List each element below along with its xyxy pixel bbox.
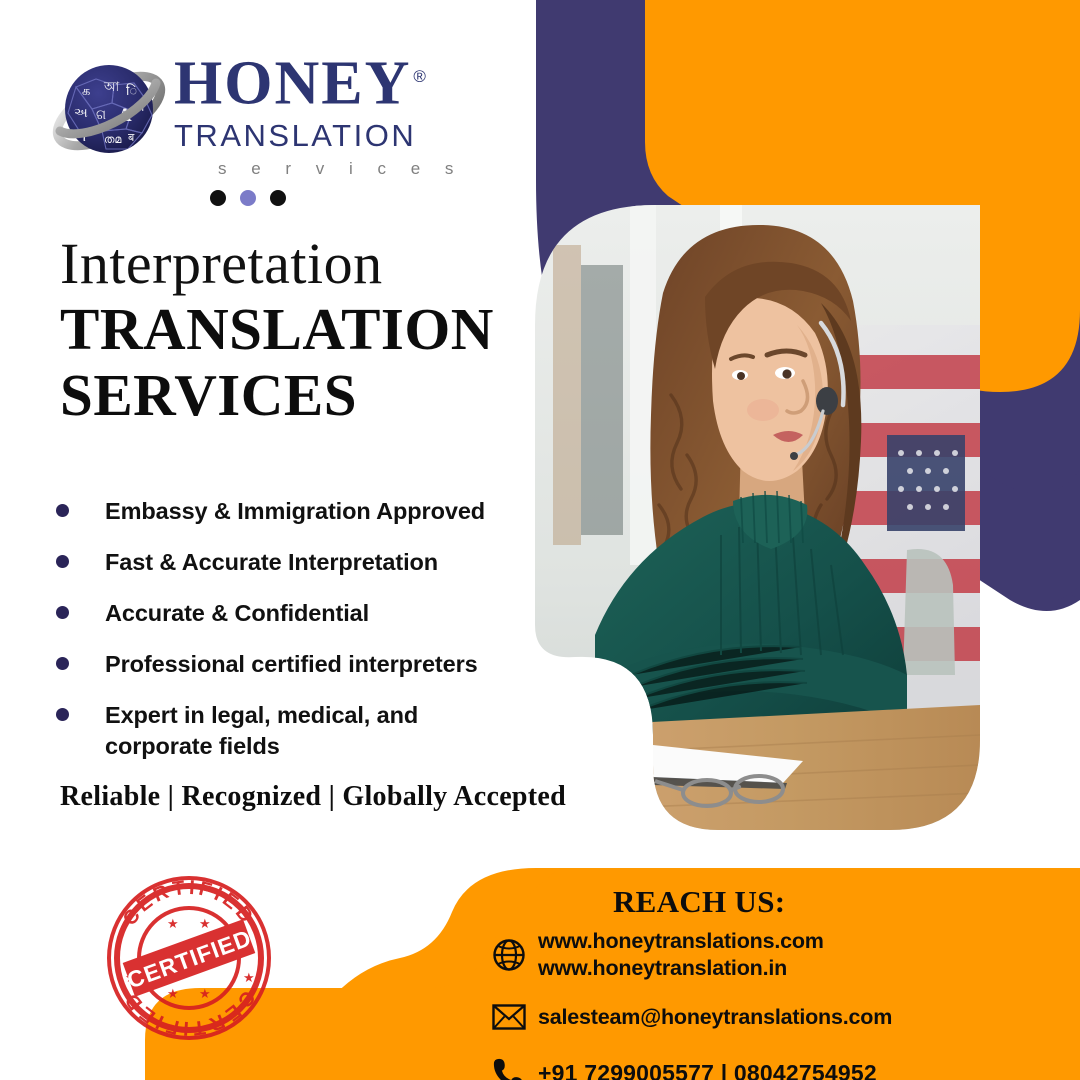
- svg-text:★: ★: [199, 916, 211, 931]
- bullet-dot-icon: [56, 555, 69, 568]
- bullet-dot-icon: [56, 657, 69, 670]
- svg-text:আ: আ: [103, 79, 120, 94]
- list-item: Embassy & Immigration Approved: [56, 496, 526, 527]
- certified-stamp-icon: CERTIFIED CERTIFIED ★ ★ ★ ★ ★ ★ CERTI: [103, 872, 275, 1044]
- svg-text:തമ: തമ: [104, 134, 121, 146]
- feature-text: Embassy & Immigration Approved: [105, 496, 485, 527]
- logo-dot-3: [270, 190, 286, 206]
- contact-details: www.honeytranslations.com www.honeytrans…: [492, 928, 1052, 1080]
- headline-bold-1: TRANSLATION: [60, 296, 530, 362]
- svg-text:ि: ि: [126, 83, 137, 98]
- logo-tagline: s e r v i c e s: [174, 157, 474, 181]
- list-item: Expert in legal, medical, and corporate …: [56, 700, 526, 762]
- globe-languages-icon: க আ ि અ ଗ A ग ፐ തമ ब: [52, 53, 170, 171]
- feature-text: Expert in legal, medical, and corporate …: [105, 700, 450, 762]
- headline-script: Interpretation: [60, 232, 530, 296]
- svg-text:અ: અ: [74, 105, 88, 120]
- brand-logo: க আ ि અ ଗ A ग ፐ തമ ब HONEY® TRANSLATIO: [52, 45, 472, 215]
- value-tagline: Reliable | Recognized | Globally Accepte…: [60, 779, 566, 815]
- contact-row-website[interactable]: www.honeytranslations.com www.honeytrans…: [492, 928, 1052, 982]
- svg-text:★: ★: [167, 986, 179, 1001]
- logo-dot-indicators: [210, 190, 286, 206]
- website-line-1: www.honeytranslations.com: [538, 928, 824, 955]
- phone-text: +91 7299005577 | 08042754952: [538, 1060, 877, 1080]
- headline-block: Interpretation TRANSLATION SERVICES: [60, 232, 530, 428]
- reach-us-heading: REACH US:: [613, 883, 785, 921]
- logo-dot-2: [240, 190, 256, 206]
- headline-bold-2: SERVICES: [60, 362, 530, 428]
- list-item: Professional certified interpreters: [56, 649, 526, 680]
- website-line-2: www.honeytranslation.in: [538, 955, 824, 982]
- logo-name-text: HONEY: [174, 50, 411, 118]
- contact-row-phone[interactable]: +91 7299005577 | 08042754952: [492, 1052, 1052, 1080]
- logo-dot-1: [210, 190, 226, 206]
- website-text: www.honeytranslations.com www.honeytrans…: [538, 928, 824, 982]
- envelope-icon: [492, 996, 538, 1038]
- svg-text:★: ★: [167, 916, 179, 931]
- email-text: salesteam@honeytranslations.com: [538, 1004, 892, 1031]
- bullet-dot-icon: [56, 606, 69, 619]
- phone-icon: [492, 1052, 538, 1080]
- feature-text: Fast & Accurate Interpretation: [105, 547, 438, 578]
- svg-text:க: க: [82, 83, 90, 98]
- logo-name: HONEY®: [174, 45, 428, 116]
- hero-photo: [535, 205, 980, 830]
- globe-icon: [492, 934, 538, 976]
- svg-text:ब: ब: [128, 132, 135, 144]
- logo-subtitle: TRANSLATION: [174, 118, 474, 154]
- bullet-dot-icon: [56, 504, 69, 517]
- poster-canvas: க আ ि અ ଗ A ग ፐ തമ ब HONEY® TRANSLATIO: [0, 0, 1080, 1080]
- logo-wordmark: HONEY® TRANSLATION s e r v i c e s: [174, 45, 474, 181]
- svg-text:ଗ: ଗ: [96, 107, 106, 122]
- bullet-dot-icon: [56, 708, 69, 721]
- svg-text:★: ★: [199, 986, 211, 1001]
- feature-list: Embassy & Immigration Approved Fast & Ac…: [56, 496, 526, 782]
- feature-text: Accurate & Confidential: [105, 598, 369, 629]
- svg-text:★: ★: [243, 970, 255, 985]
- list-item: Fast & Accurate Interpretation: [56, 547, 526, 578]
- contact-row-email[interactable]: salesteam@honeytranslations.com: [492, 996, 1052, 1038]
- registered-mark: ®: [413, 67, 428, 86]
- feature-text: Professional certified interpreters: [105, 649, 478, 680]
- list-item: Accurate & Confidential: [56, 598, 526, 629]
